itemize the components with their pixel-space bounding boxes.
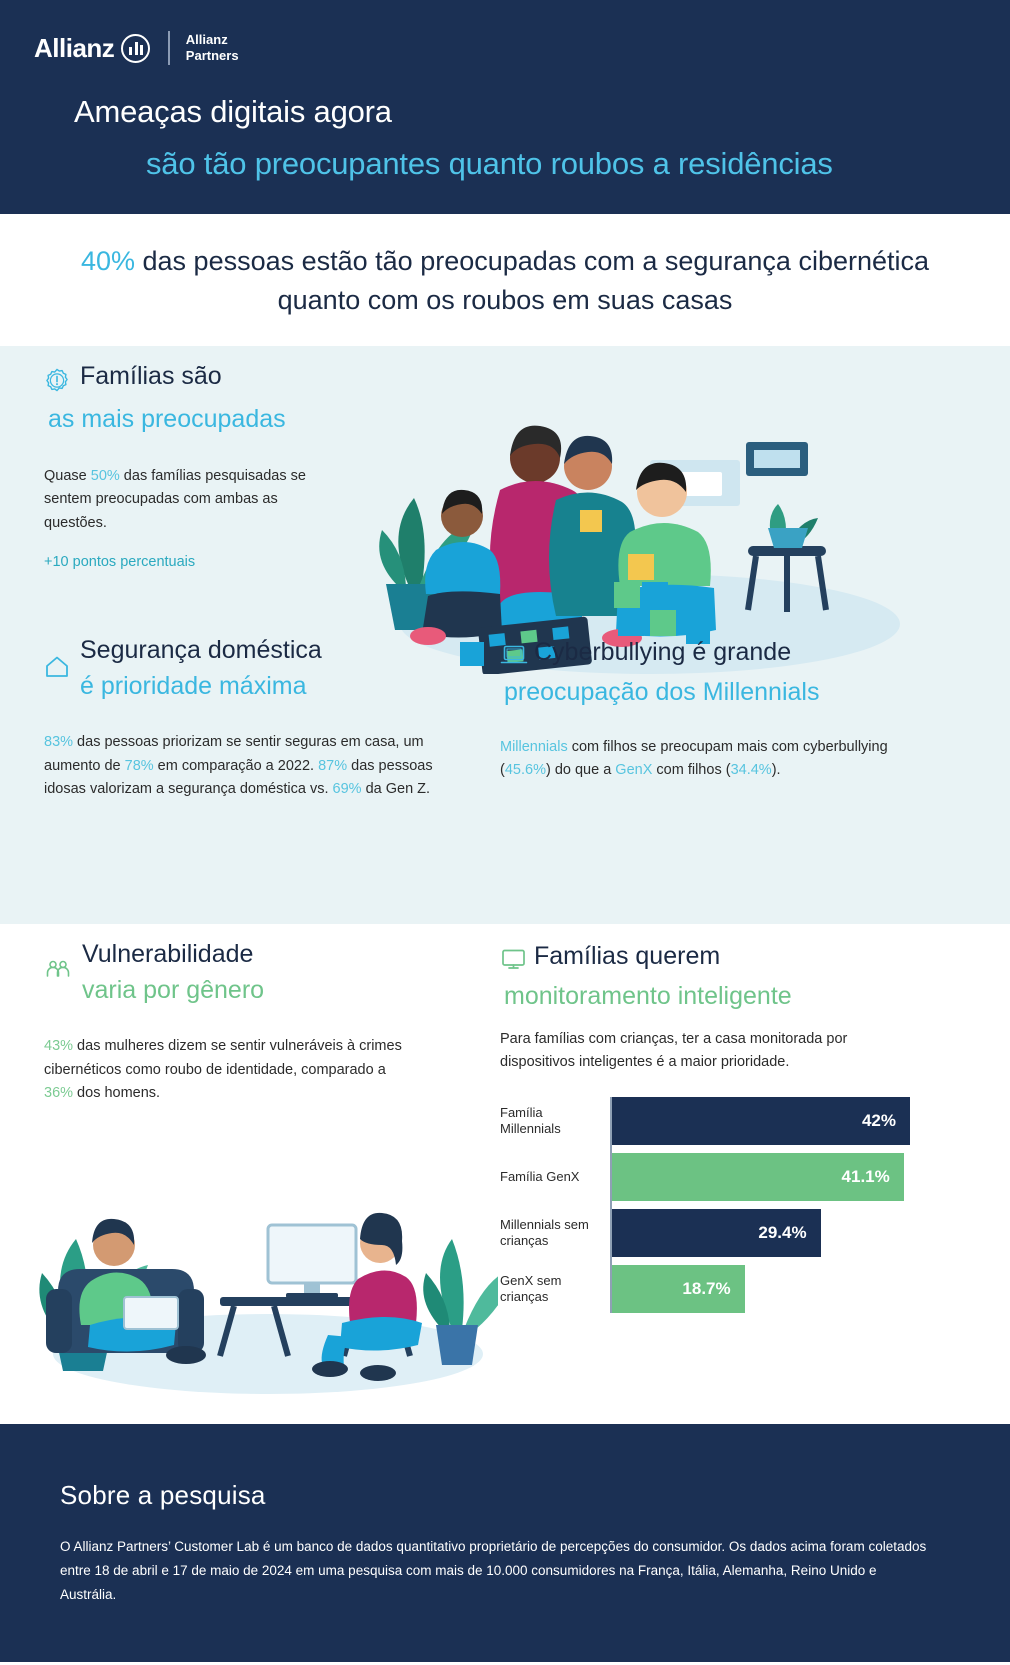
partners-line-2: Partners (186, 48, 239, 63)
section-families: Famílias são as mais preocupadas Quase 5… (44, 362, 374, 570)
chart-bar-value: 41.1% (842, 1167, 890, 1187)
vu-p2: 36% (44, 1085, 73, 1101)
chart-row: Família Millennials 42% (500, 1097, 910, 1145)
monitor-icon (500, 947, 527, 976)
cb-p5: com filhos ( (652, 762, 730, 778)
vulnerability-body: 43% das mulheres dizem se sentir vulnerá… (44, 1035, 414, 1105)
section-band-upper: Famílias são as mais preocupadas Quase 5… (0, 346, 1010, 924)
families-heading: Famílias são (44, 362, 374, 399)
monitoring-heading-dark: Famílias querem (534, 942, 720, 972)
hs-p7: da Gen Z. (362, 781, 431, 797)
chart-bar: 41.1% (612, 1153, 904, 1201)
monitoring-body: Para famílias com crianças, ter a casa m… (500, 1028, 900, 1075)
header: Allianz Allianz Partners Ameaças digitai… (0, 0, 1010, 214)
chart-category-label: Família Millennials (500, 1105, 604, 1136)
house-icon (44, 654, 70, 685)
cyberbullying-body: Millennials com filhos se preocupam mais… (500, 736, 900, 783)
home-security-heading-accent: é prioridade máxima (80, 672, 322, 702)
subtitle-highlight: 40% (81, 246, 135, 276)
subtitle-rest: das pessoas estão tão preocupadas com a … (135, 246, 929, 315)
home-office-illustration (28, 1139, 498, 1399)
chart-bar-value: 29.4% (758, 1223, 806, 1243)
cb-p3: ) do que a (546, 762, 615, 778)
vu-p1: das mulheres dizem se sentir vulneráveis… (44, 1038, 402, 1077)
footer-body: O Allianz Partners’ Customer Lab é um ba… (60, 1535, 930, 1606)
chart-bar: 42% (612, 1097, 910, 1145)
chart-row: Millennials sem crianças 29.4% (500, 1209, 910, 1257)
chart-bar-value: 18.7% (682, 1279, 730, 1299)
families-note: +10 pontos percentuais (44, 554, 374, 570)
families-body: Quase 50% das famílias pesquisadas se se… (44, 465, 344, 535)
monitoring-heading-accent: monitoramento inteligente (504, 982, 930, 1012)
families-body-p0: Quase (44, 468, 91, 484)
chart-bar: 18.7% (612, 1265, 745, 1313)
hs-p0: 83% (44, 734, 73, 750)
subtitle-band: 40% das pessoas estão tão preocupadas co… (0, 214, 1010, 346)
partners-line-1: Allianz (186, 32, 228, 47)
allianz-partners-label: Allianz Partners (186, 32, 239, 65)
section-vulnerability: Vulnerabilidade varia por gênero 43% das… (44, 940, 464, 1105)
families-body-p1: 50% (91, 468, 120, 484)
hs-p3: em comparação a 2022. (154, 758, 318, 774)
section-home-security: Segurança doméstica é prioridade máxima … (44, 636, 464, 801)
footer-title: Sobre a pesquisa (60, 1480, 950, 1511)
home-security-body: 83% das pessoas priorizam se sentir segu… (44, 731, 434, 801)
two-people-icon (44, 958, 72, 987)
smart-monitoring-bar-chart: Família Millennials 42% Família GenX 41.… (500, 1097, 910, 1313)
monitoring-heading: Famílias querem (500, 942, 930, 976)
alert-badge-icon (44, 368, 70, 399)
cb-p6: 34.4% (731, 762, 772, 778)
chart-category-label: Millennials sem crianças (500, 1217, 604, 1248)
cb-p0: Millennials (500, 739, 568, 755)
brand-logo: Allianz Allianz Partners (0, 26, 1010, 70)
hs-p6: 69% (333, 781, 362, 797)
header-title-line-2: são tão preocupantes quanto roubos a res… (0, 146, 1010, 182)
vulnerability-heading-accent: varia por gênero (82, 976, 264, 1006)
subtitle-text: 40% das pessoas estão tão preocupadas co… (60, 242, 950, 320)
hs-p2: 78% (125, 758, 154, 774)
family-illustration (350, 394, 910, 674)
chart-bar-value: 42% (862, 1111, 896, 1131)
home-security-heading: Segurança doméstica é prioridade máxima (44, 636, 464, 701)
home-security-heading-dark: Segurança doméstica (80, 636, 322, 666)
logo-divider (168, 31, 170, 65)
section-monitoring: Famílias querem monitoramento inteligent… (500, 942, 930, 1320)
section-band-lower: Vulnerabilidade varia por gênero 43% das… (0, 924, 1010, 1424)
cb-p4: GenX (615, 762, 652, 778)
cyberbullying-heading-accent: preocupação dos Millennials (504, 678, 930, 708)
chart-row: Família GenX 41.1% (500, 1153, 910, 1201)
vu-p0: 43% (44, 1038, 73, 1054)
vulnerability-heading: Vulnerabilidade varia por gênero (44, 940, 464, 1005)
infographic-page: Allianz Allianz Partners Ameaças digitai… (0, 0, 1010, 1665)
allianz-bars-icon (121, 34, 150, 63)
hs-p4: 87% (318, 758, 347, 774)
families-heading-dark: Famílias são (80, 362, 222, 392)
allianz-wordmark: Allianz (34, 33, 114, 64)
section-cyberbullying: Cyberbullying é grande preocupação dos M… (500, 638, 930, 782)
footer: Sobre a pesquisa O Allianz Partners’ Cus… (0, 1424, 1010, 1662)
families-heading-accent: as mais preocupadas (48, 405, 374, 435)
chart-category-label: GenX sem crianças (500, 1273, 604, 1304)
chart-category-label: Família GenX (500, 1169, 604, 1185)
cyberbullying-heading: Cyberbullying é grande (500, 638, 930, 672)
header-title-line-1: Ameaças digitais agora (0, 94, 1010, 130)
cb-p2: 45.6% (505, 762, 546, 778)
chart-row: GenX sem crianças 18.7% (500, 1265, 910, 1313)
vulnerability-heading-dark: Vulnerabilidade (82, 940, 264, 970)
cyberbullying-heading-dark: Cyberbullying é grande (534, 638, 791, 668)
vu-p3: dos homens. (73, 1085, 160, 1101)
chart-bar: 29.4% (612, 1209, 821, 1257)
cb-p7: ). (772, 762, 781, 778)
laptop-icon (500, 643, 528, 672)
